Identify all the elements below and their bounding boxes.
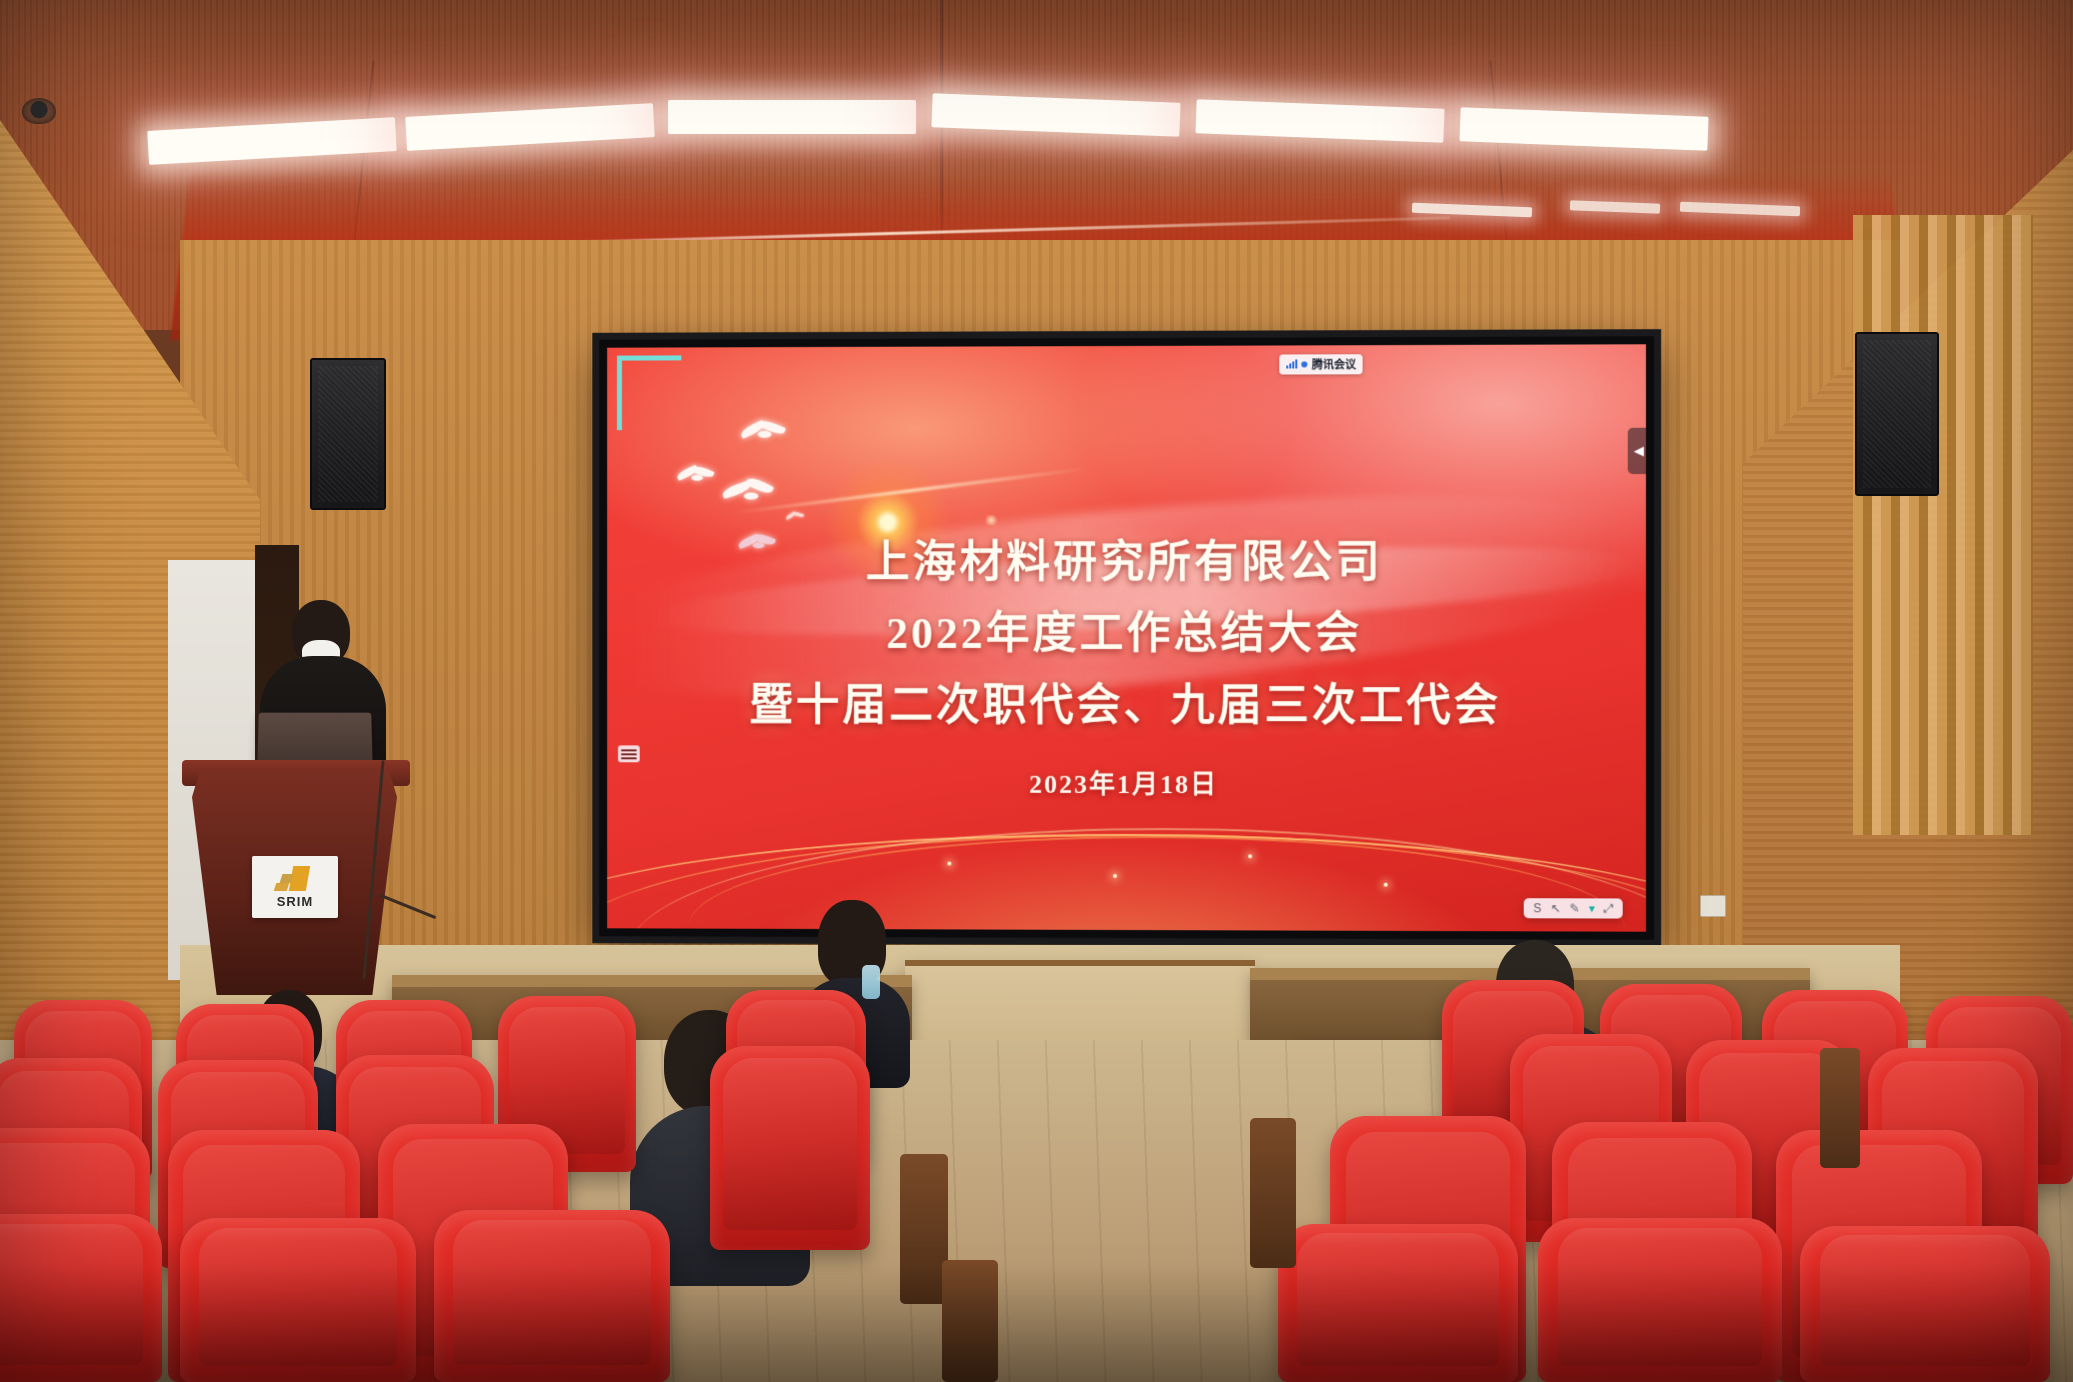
signal-bars-icon: [1287, 360, 1298, 369]
led-presentation-screen[interactable]: 上海材料研究所有限公司 2022年度工作总结大会 暨十届二次职代会、九届三次工代…: [599, 336, 1654, 940]
screen-content: 上海材料研究所有限公司 2022年度工作总结大会 暨十届二次职代会、九届三次工代…: [607, 344, 1646, 931]
ceiling-light-strip: [668, 100, 916, 134]
screen-title-line-2: 2022年度工作总结大会: [607, 598, 1646, 670]
seat[interactable]: [1800, 1226, 2050, 1382]
screen-title: 上海材料研究所有限公司 2022年度工作总结大会 暨十届二次职代会、九届三次工代…: [607, 526, 1646, 741]
seat[interactable]: [1278, 1224, 1518, 1382]
chevron-left-icon[interactable]: ◀: [1628, 428, 1646, 474]
seat-armrest: [1250, 1118, 1296, 1268]
share-screen-icon[interactable]: S: [1533, 902, 1541, 914]
pen-icon[interactable]: ✎: [1570, 902, 1580, 914]
gold-ribbon-decoration: [607, 789, 1646, 932]
exit-icon[interactable]: ⤢: [1604, 903, 1614, 915]
curtain-icon: [1853, 215, 2033, 835]
tencent-meeting-label: 腾讯会议: [1312, 356, 1356, 372]
tencent-meeting-badge: 腾讯会议: [1280, 354, 1363, 374]
wall-outlet: [1700, 895, 1726, 917]
loudspeaker-icon: [1855, 332, 1939, 496]
ribbon-spark: [947, 862, 951, 866]
screen-share-corner-bracket: [617, 355, 681, 430]
speaker-mesh: [1863, 340, 1931, 488]
hamburger-menu-icon[interactable]: [618, 745, 640, 762]
screen-title-line-1: 上海材料研究所有限公司: [607, 526, 1646, 598]
srim-logo-icon: SRIM: [252, 856, 338, 918]
conference-room-photo: 上海材料研究所有限公司 2022年度工作总结大会 暨十届二次职代会、九届三次工代…: [0, 0, 2073, 1382]
record-dot-icon: [1302, 361, 1308, 367]
seat[interactable]: [710, 1046, 870, 1250]
water-bottle: [862, 965, 880, 999]
security-camera-icon: [22, 98, 56, 124]
seat-armrest: [900, 1154, 948, 1304]
seat[interactable]: [180, 1218, 416, 1382]
loudspeaker-icon: [310, 358, 386, 510]
seat-armrest: [1820, 1048, 1860, 1168]
seat[interactable]: [1538, 1218, 1782, 1382]
seat[interactable]: [434, 1210, 670, 1382]
screen-title-line-3: 暨十届二次职代会、九届三次工代会: [607, 669, 1646, 741]
speaker-mesh: [318, 366, 378, 502]
meeting-mini-toolbar[interactable]: S ↖ ✎ ▾ ⤢: [1524, 898, 1623, 918]
srim-mark: [275, 866, 315, 892]
lens-flare-small: [983, 516, 999, 526]
cursor-icon[interactable]: ↖: [1550, 902, 1560, 914]
people-icon[interactable]: ▾: [1589, 903, 1595, 915]
srim-logo-text: SRIM: [277, 894, 314, 909]
seat-armrest: [942, 1260, 998, 1382]
seat[interactable]: [0, 1214, 162, 1382]
